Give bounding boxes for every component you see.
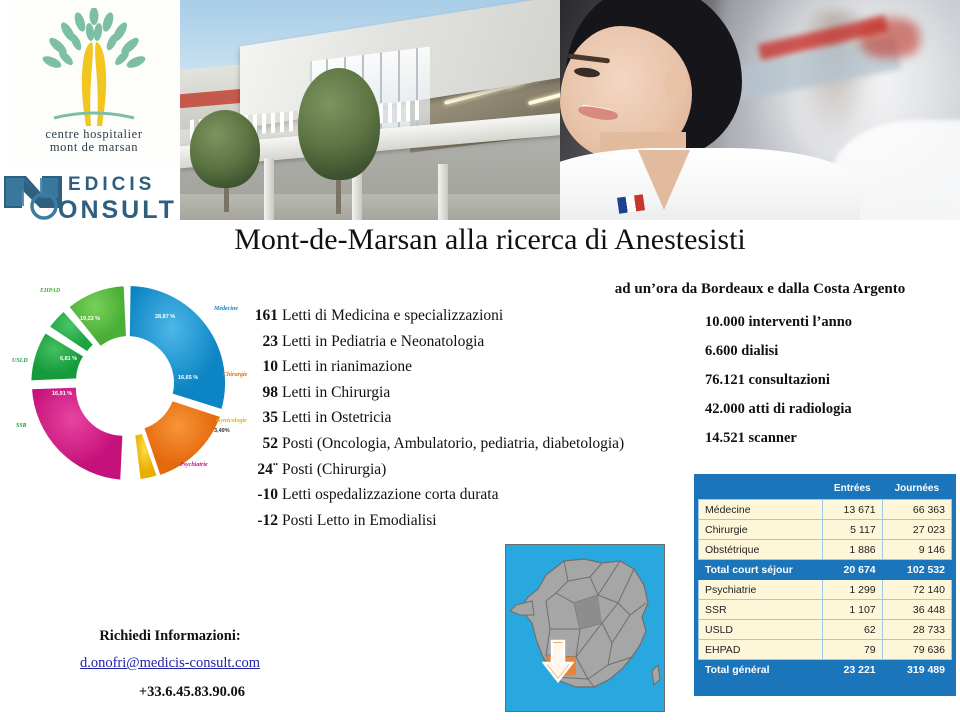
- row-label: Médecine: [699, 500, 823, 520]
- bed-count: -10: [248, 486, 278, 504]
- pie-label-psychiatrie: Psychiatrie: [180, 462, 208, 468]
- hospital-logo-text: centre hospitalier mont de marsan: [45, 128, 142, 154]
- bed-count: 52: [248, 435, 278, 453]
- row-label: Chirurgie: [699, 520, 823, 540]
- bed-label: Letti ospedalizzazione corta durata: [282, 486, 498, 503]
- activity-table: Entrées Journées Médecine13 67166 363 Ch…: [694, 474, 956, 696]
- donut-chart-svg: [18, 276, 280, 494]
- stat-item: 6.600 dialisi: [705, 343, 955, 360]
- building-tree: [298, 68, 380, 180]
- bed-label: Letti in rianimazione: [282, 358, 412, 375]
- activity-stats-list: 10.000 interventi l’anno 6.600 dialisi 7…: [705, 314, 955, 459]
- row-journees: 36 448: [882, 600, 951, 620]
- banner-photo-strip: [180, 0, 960, 220]
- background-red-blob: [860, 18, 920, 58]
- list-item: 161Letti di Medicina e specializzazioni: [248, 307, 698, 325]
- page-title: Mont-de-Marsan alla ricerca di Anestesis…: [140, 223, 840, 257]
- row-label: Obstétrique: [699, 540, 823, 560]
- row-journees: 66 363: [882, 500, 951, 520]
- bed-count: 23: [248, 333, 278, 351]
- row-journees: 28 733: [882, 620, 951, 640]
- pie-label-usld: USLD: [12, 358, 28, 364]
- list-item: 35Letti in Ostetricia: [248, 409, 698, 427]
- row-journees: 79 636: [882, 640, 951, 660]
- row-entrees: 13 671: [822, 500, 882, 520]
- pie-pct-medecine: 28,87 %: [155, 314, 175, 320]
- list-item: -12Posti Letto in Emodialisi: [248, 512, 698, 530]
- bed-count: 35: [248, 409, 278, 427]
- header-banner: centre hospitalier mont de marsan EDICIS…: [0, 0, 960, 220]
- row-entrees: 1 299: [822, 580, 882, 600]
- bed-count: -12: [248, 512, 278, 530]
- row-entrees: 1 107: [822, 600, 882, 620]
- bed-label: Posti Letto in Emodialisi: [282, 512, 437, 529]
- row-entrees: 1 886: [822, 540, 882, 560]
- list-item: 24¨Posti (Chirurgia): [248, 461, 698, 479]
- table-row: SSR1 10736 448: [699, 600, 952, 620]
- poster-page: centre hospitalier mont de marsan EDICIS…: [0, 0, 960, 720]
- activity-donut-chart: Médecine Chirurgie Gynécologie Psychiatr…: [18, 276, 280, 494]
- stat-item: 76.121 consultazioni: [705, 372, 955, 389]
- table-header-row: Entrées Journées: [699, 478, 952, 500]
- table-row: Psychiatrie1 29972 140: [699, 580, 952, 600]
- table-row-total: Total général23 221319 489: [699, 660, 952, 680]
- list-item: -10Letti ospedalizzazione corta durata: [248, 486, 698, 504]
- table-row: EHPAD7979 636: [699, 640, 952, 660]
- pie-pct-usld: 6,81 %: [60, 356, 77, 362]
- row-label: Total général: [699, 660, 823, 680]
- bed-count: 98: [248, 384, 278, 402]
- bed-label: Posti (Chirurgia): [282, 461, 386, 478]
- row-journees: 9 146: [882, 540, 951, 560]
- row-label: EHPAD: [699, 640, 823, 660]
- france-map: [505, 544, 665, 712]
- col-header-journees: Journées: [882, 478, 951, 500]
- list-item: 23Letti in Pediatria e Neonatologia: [248, 333, 698, 351]
- hospital-logo-line2: mont de marsan: [45, 141, 142, 154]
- contact-title: Richiedi Informazioni:: [20, 628, 320, 645]
- pie-pct-gynecologie: 3,49%: [214, 428, 230, 434]
- hospital-building-photo: [180, 0, 580, 220]
- table-row-total: Total court séjour20 674102 532: [699, 560, 952, 580]
- list-item: 10Letti in rianimazione: [248, 358, 698, 376]
- pie-pct-ehpad: 19,22 %: [80, 316, 100, 322]
- tree-logo-icon: [34, 8, 154, 126]
- smiling-nurse-photo: [560, 0, 960, 220]
- row-entrees: 79: [822, 640, 882, 660]
- pie-label-medecine: Médecine: [214, 306, 238, 312]
- row-label: USLD: [699, 620, 823, 640]
- bed-label: Letti in Pediatria e Neonatologia: [282, 333, 484, 350]
- stat-item: 10.000 interventi l’anno: [705, 314, 955, 331]
- bed-label: Letti in Chirurgia: [282, 384, 390, 401]
- hospital-logo: centre hospitalier mont de marsan: [8, 0, 180, 176]
- row-label: Psychiatrie: [699, 580, 823, 600]
- row-journees: 72 140: [882, 580, 951, 600]
- row-label: Total court séjour: [699, 560, 823, 580]
- table-row: Obstétrique1 8869 146: [699, 540, 952, 560]
- stat-item: 42.000 atti di radiologia: [705, 401, 955, 418]
- nurse-ear: [664, 68, 688, 100]
- pie-label-chirurgie: Chirurgie: [223, 372, 247, 378]
- table-row: Médecine13 67166 363: [699, 500, 952, 520]
- page-subtitle: ad un’ora da Bordeaux e dalla Costa Arge…: [560, 281, 960, 298]
- list-item: 98Letti in Chirurgia: [248, 384, 698, 402]
- building-tree: [190, 110, 260, 188]
- pie-pct-chirurgie: 16,65 %: [178, 375, 198, 381]
- row-label: SSR: [699, 600, 823, 620]
- contact-phone: +33.6.45.83.90.06: [20, 684, 320, 701]
- medicis-consult-logo: EDICIS ONSULT: [0, 168, 180, 220]
- nurse-tunic: [560, 148, 860, 220]
- pie-pct-psychiatrie: 25,06: [118, 428, 132, 434]
- pie-label-ssr: SSR: [16, 423, 27, 429]
- col-header-entrees: Entrées: [822, 478, 882, 500]
- bed-count: 10: [248, 358, 278, 376]
- contact-email-link[interactable]: d.onofri@medicis-consult.com: [20, 655, 320, 672]
- col-header-blank: [699, 478, 823, 500]
- row-journees: 27 023: [882, 520, 951, 540]
- row-journees: 319 489: [882, 660, 951, 680]
- stat-item: 14.521 scanner: [705, 430, 955, 447]
- beds-list: 161Letti di Medicina e specializzazioni …: [248, 307, 698, 537]
- medicis-logo-word1: EDICIS: [68, 174, 155, 195]
- location-arrow-icon: [542, 639, 574, 683]
- building-ground: [180, 194, 580, 220]
- bed-count: 24¨: [248, 461, 278, 479]
- row-entrees: 20 674: [822, 560, 882, 580]
- row-entrees: 23 221: [822, 660, 882, 680]
- row-entrees: 5 117: [822, 520, 882, 540]
- pie-pct-ssr: 16,91 %: [52, 391, 72, 397]
- contact-block: Richiedi Informazioni: d.onofri@medicis-…: [20, 628, 320, 701]
- bed-label: Letti di Medicina e specializzazioni: [282, 307, 503, 324]
- table-row: USLD6228 733: [699, 620, 952, 640]
- bed-label: Letti in Ostetricia: [282, 409, 391, 426]
- row-journees: 102 532: [882, 560, 951, 580]
- bed-count: 161: [248, 307, 278, 325]
- pie-label-gynecologie: Gynécologie: [216, 418, 247, 424]
- france-map-svg: [506, 545, 665, 712]
- table-row: Chirurgie5 11727 023: [699, 520, 952, 540]
- bed-label: Posti (Oncologia, Ambulatorio, pediatria…: [282, 435, 624, 452]
- list-item: 52Posti (Oncologia, Ambulatorio, pediatr…: [248, 435, 698, 453]
- row-entrees: 62: [822, 620, 882, 640]
- medicis-logo-word2: ONSULT: [58, 196, 177, 220]
- pie-label-ehpad: EHPAD: [40, 288, 60, 294]
